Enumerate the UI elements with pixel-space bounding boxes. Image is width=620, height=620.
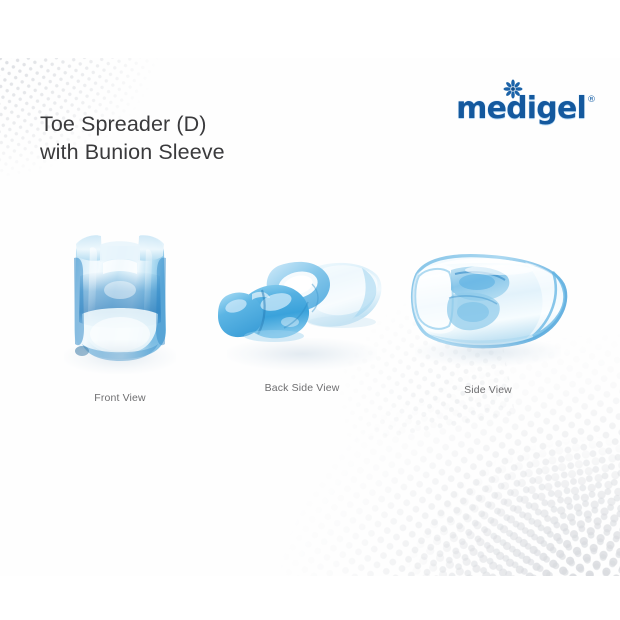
product-views-row: Front View bbox=[0, 218, 620, 438]
toe-spreader-front-photo bbox=[60, 218, 180, 368]
registered-trademark-icon: ® bbox=[587, 96, 596, 105]
logo-stack: medigel bbox=[456, 94, 586, 124]
view-caption-side: Side View bbox=[398, 384, 578, 396]
product-card: Toe Spreader (D) with Bunion Sleeve bbox=[0, 0, 620, 620]
page-title: Toe Spreader (D) with Bunion Sleeve bbox=[40, 110, 225, 167]
toe-spreader-side-photo bbox=[403, 246, 573, 358]
brand-logo: medigel ® bbox=[456, 94, 596, 124]
product-view-side: Side View bbox=[398, 246, 578, 396]
product-view-back-side: Back Side View bbox=[212, 240, 392, 394]
product-view-front: Front View bbox=[40, 218, 200, 404]
view-caption-back-side: Back Side View bbox=[212, 382, 392, 394]
content-band: Toe Spreader (D) with Bunion Sleeve bbox=[0, 58, 620, 576]
view-caption-front: Front View bbox=[40, 392, 200, 404]
toe-spreader-back-side-photo bbox=[216, 240, 388, 360]
flower-asterisk-icon bbox=[503, 79, 523, 99]
